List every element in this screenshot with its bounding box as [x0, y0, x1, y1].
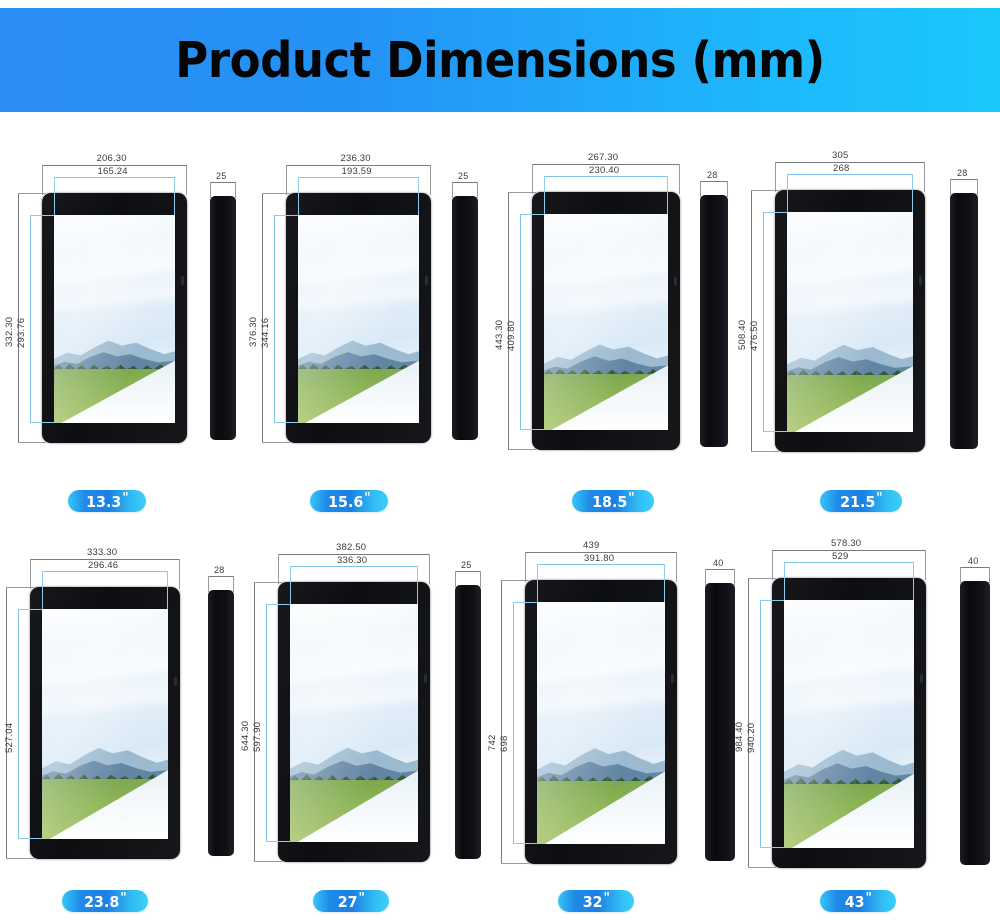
size-badge-number: 18.5	[592, 493, 627, 511]
outer-height-extension-top	[6, 587, 34, 588]
outer-width-extension-right	[676, 552, 677, 582]
outer-height-extension-bottom	[751, 451, 779, 452]
camera-dot-icon	[425, 276, 428, 285]
product-panel: 382.50336.30644.30597.902527"	[250, 540, 500, 924]
outer-width-label: 236.30	[341, 153, 371, 164]
outer-height-label: 508.40	[737, 320, 748, 350]
device-side-view	[705, 583, 735, 861]
outer-height-extension-bottom	[18, 442, 46, 443]
size-badge-number: 15.6	[328, 493, 363, 511]
device-front-view	[525, 580, 677, 864]
screen-width-label: 268	[833, 163, 849, 174]
screen-width-dimension-line	[787, 174, 913, 175]
screen-height-label: 476.50	[749, 321, 760, 351]
device-side-view	[452, 196, 478, 440]
device-front-view	[278, 582, 430, 862]
screen-width-label: 391.80	[584, 553, 614, 564]
screen-width-extension-right	[174, 177, 175, 215]
outer-width-extension-left	[525, 552, 526, 582]
depth-extension-right	[477, 182, 478, 198]
size-badge-label: 15.6"	[328, 492, 371, 510]
screen-height-extension-bottom	[274, 422, 298, 423]
size-badge-inch-mark: "	[358, 891, 364, 906]
outer-height-extension-bottom	[262, 442, 290, 443]
device-side-view	[455, 585, 481, 859]
outer-width-extension-right	[924, 162, 925, 192]
product-panel: 267.30230.40443.30409.802818.5"	[500, 160, 750, 530]
size-badge[interactable]: 15.6"	[310, 490, 388, 512]
screen-height-extension-top	[30, 215, 54, 216]
device-side-view	[208, 590, 234, 856]
screen-height-extension-top	[520, 214, 544, 215]
screen-height-label: 293.76	[16, 318, 27, 348]
screen-height-extension-top	[18, 609, 42, 610]
screen-height-extension-bottom	[266, 841, 290, 842]
screen-height-dimension-line	[763, 212, 764, 432]
outer-height-label: 984.40	[734, 722, 745, 752]
size-badge[interactable]: 43"	[820, 890, 896, 912]
outer-width-extension-left	[772, 550, 773, 580]
size-badge-number: 32	[582, 893, 602, 911]
size-badge-inch-mark: "	[603, 891, 609, 906]
outer-width-extension-left	[532, 164, 533, 194]
depth-extension-right	[235, 182, 236, 198]
device-front-view	[42, 193, 187, 443]
screen-height-dimension-line	[274, 215, 275, 423]
depth-extension-left	[950, 179, 951, 195]
depth-extension-right	[233, 576, 234, 592]
camera-dot-icon	[674, 277, 677, 286]
camera-dot-icon	[920, 674, 923, 683]
screen-height-dimension-line	[513, 602, 514, 844]
device-side-view	[210, 196, 236, 440]
outer-width-dimension-line	[775, 162, 925, 163]
device-front-view	[532, 192, 680, 450]
outer-height-label: 644.30	[240, 721, 251, 751]
device-screen	[784, 600, 914, 848]
outer-width-label: 267.30	[588, 152, 618, 163]
depth-extension-left	[452, 182, 453, 198]
outer-height-extension-top	[748, 578, 776, 579]
depth-label: 25	[461, 560, 471, 570]
depth-dimension-line	[455, 571, 481, 572]
outer-width-extension-left	[278, 554, 279, 584]
screen-width-extension-right	[417, 566, 418, 604]
product-panel: 333.30296.46557.30527.042823.8"	[0, 540, 250, 924]
device-front-view	[286, 193, 431, 443]
size-badge[interactable]: 27"	[313, 890, 389, 912]
depth-extension-left	[700, 181, 701, 197]
screen-width-dimension-line	[54, 177, 175, 178]
screen-width-dimension-line	[290, 566, 418, 567]
screen-width-extension-right	[167, 571, 168, 609]
depth-dimension-line	[700, 181, 728, 182]
screen-width-extension-right	[913, 562, 914, 600]
device-screen	[290, 604, 418, 842]
outer-width-label: 333.30	[87, 547, 117, 558]
depth-label: 28	[957, 168, 967, 178]
outer-height-extension-top	[751, 190, 779, 191]
outer-width-extension-right	[679, 164, 680, 194]
screen-height-label: 698	[499, 736, 510, 752]
size-badge[interactable]: 21.5"	[820, 490, 902, 512]
screen-height-label: 527.04	[4, 723, 15, 753]
product-panel: 305268508.40476.502821.5"	[750, 160, 1000, 530]
depth-dimension-line	[208, 576, 234, 577]
product-panel: 439391.807426984032"	[500, 540, 750, 924]
device-screen	[42, 609, 168, 839]
size-badge-label: 32"	[582, 892, 609, 910]
screen-height-extension-top	[513, 602, 537, 603]
screen-width-dimension-line	[537, 564, 665, 565]
outer-height-label: 376.30	[248, 317, 259, 347]
size-badge[interactable]: 13.3"	[68, 490, 146, 512]
size-badge[interactable]: 18.5"	[572, 490, 654, 512]
device-screen	[787, 212, 913, 432]
outer-width-extension-right	[430, 165, 431, 195]
screen-height-extension-top	[760, 600, 784, 601]
device-front-view	[775, 190, 925, 452]
screen-width-extension-left	[290, 566, 291, 604]
screen-height-extension-bottom	[18, 838, 42, 839]
outer-height-label: 557.30	[0, 722, 3, 752]
screen-width-dimension-line	[298, 177, 419, 178]
device-side-view	[700, 195, 728, 447]
outer-width-extension-right	[925, 550, 926, 580]
outer-height-extension-top	[18, 193, 46, 194]
depth-dimension-line	[960, 567, 990, 568]
outer-height-label: 742	[487, 735, 498, 751]
outer-width-dimension-line	[772, 550, 926, 551]
size-badge[interactable]: 32"	[558, 890, 634, 912]
screen-height-dimension-line	[760, 600, 761, 848]
depth-extension-left	[960, 567, 961, 583]
outer-height-extension-top	[508, 192, 536, 193]
outer-height-extension-top	[501, 580, 529, 581]
size-badge-number: 21.5	[840, 493, 875, 511]
camera-dot-icon	[174, 677, 177, 686]
screen-height-label: 344.16	[260, 318, 271, 348]
device-side-view	[960, 581, 990, 865]
screen-width-label: 230.40	[589, 165, 619, 176]
size-badge-label: 18.5"	[592, 492, 635, 510]
depth-label: 28	[214, 565, 224, 575]
screen-width-label: 165.24	[98, 166, 128, 177]
camera-dot-icon	[181, 276, 184, 285]
screen-height-extension-bottom	[30, 422, 54, 423]
size-badge-inch-mark: "	[120, 891, 126, 906]
screen-height-label: 409.80	[506, 321, 517, 351]
device-screen	[544, 214, 668, 430]
screen-height-dimension-line	[30, 215, 31, 423]
outer-height-extension-bottom	[254, 861, 282, 862]
product-row-bottom: 333.30296.46557.30527.042823.8"382.50336…	[0, 540, 1000, 924]
size-badge-number: 13.3	[86, 493, 121, 511]
outer-width-extension-right	[429, 554, 430, 584]
size-badge-label: 43"	[844, 892, 871, 910]
outer-width-extension-left	[286, 165, 287, 195]
depth-extension-right	[977, 179, 978, 195]
depth-label: 25	[458, 171, 468, 181]
outer-width-label: 578.30	[831, 538, 861, 549]
screen-width-extension-left	[54, 177, 55, 215]
size-badge-inch-mark: "	[364, 491, 370, 506]
product-panel: 206.30165.24332.30293.762513.3"	[0, 160, 250, 530]
outer-height-extension-bottom	[508, 449, 536, 450]
size-badge-number: 27	[337, 893, 357, 911]
header-banner: Product Dimensions (mm)	[0, 8, 1000, 112]
size-badge[interactable]: 23.8"	[62, 890, 148, 912]
outer-width-extension-right	[179, 559, 180, 589]
size-badge-label: 23.8"	[84, 892, 127, 910]
product-row-top: 206.30165.24332.30293.762513.3"236.30193…	[0, 160, 1000, 530]
depth-label: 40	[968, 556, 978, 566]
camera-dot-icon	[671, 674, 674, 683]
size-badge-label: 27"	[337, 892, 364, 910]
screen-height-extension-bottom	[513, 843, 537, 844]
size-badge-label: 13.3"	[86, 492, 129, 510]
outer-height-label: 332.30	[4, 317, 15, 347]
size-badge-inch-mark: "	[865, 891, 871, 906]
screen-width-dimension-line	[42, 571, 168, 572]
depth-dimension-line	[210, 182, 236, 183]
device-screen	[54, 215, 175, 423]
depth-extension-left	[208, 576, 209, 592]
product-dimensions-page: Product Dimensions (mm) 206.30165.24332.…	[0, 0, 1000, 924]
outer-height-dimension-line	[501, 580, 502, 864]
screen-width-extension-left	[544, 176, 545, 214]
screen-width-label: 296.46	[88, 560, 118, 571]
product-panel: 236.30193.59376.30344.162515.6"	[250, 160, 500, 530]
page-title: Product Dimensions (mm)	[175, 32, 825, 89]
screen-width-extension-left	[537, 564, 538, 602]
depth-dimension-line	[950, 179, 978, 180]
depth-label: 28	[707, 170, 717, 180]
outer-height-extension-bottom	[748, 867, 776, 868]
screen-width-extension-left	[298, 177, 299, 215]
size-badge-inch-mark: "	[628, 491, 634, 506]
outer-height-label: 443.30	[494, 320, 505, 350]
outer-width-label: 382.50	[336, 542, 366, 553]
screen-height-extension-top	[763, 212, 787, 213]
screen-height-dimension-line	[520, 214, 521, 430]
depth-extension-right	[989, 567, 990, 583]
screen-height-label: 940.20	[746, 723, 757, 753]
screen-height-extension-bottom	[760, 847, 784, 848]
device-screen	[537, 602, 665, 844]
outer-width-extension-right	[186, 165, 187, 195]
screen-width-dimension-line	[784, 562, 914, 563]
size-badge-number: 23.8	[84, 893, 119, 911]
screen-width-extension-right	[418, 177, 419, 215]
screen-height-extension-bottom	[763, 431, 787, 432]
outer-height-extension-top	[254, 582, 282, 583]
screen-width-extension-right	[667, 176, 668, 214]
depth-extension-left	[455, 571, 456, 587]
screen-width-extension-left	[784, 562, 785, 600]
device-screen	[298, 215, 419, 423]
screen-width-extension-left	[787, 174, 788, 212]
size-badge-number: 43	[844, 893, 864, 911]
outer-height-extension-bottom	[6, 858, 34, 859]
screen-width-label: 336.30	[337, 555, 367, 566]
screen-width-dimension-line	[544, 176, 668, 177]
screen-width-extension-right	[664, 564, 665, 602]
device-front-view	[30, 587, 180, 859]
screen-height-dimension-line	[266, 604, 267, 842]
depth-label: 40	[713, 558, 723, 568]
screen-height-extension-top	[274, 215, 298, 216]
device-side-view	[950, 193, 978, 449]
outer-width-label: 439	[583, 540, 599, 551]
screen-width-extension-left	[42, 571, 43, 609]
depth-extension-right	[480, 571, 481, 587]
depth-dimension-line	[705, 569, 735, 570]
device-front-view	[772, 578, 926, 868]
screen-height-dimension-line	[18, 609, 19, 839]
depth-label: 25	[216, 171, 226, 181]
outer-width-extension-left	[42, 165, 43, 195]
screen-height-extension-top	[266, 604, 290, 605]
screen-height-extension-bottom	[520, 429, 544, 430]
screen-width-extension-right	[912, 174, 913, 212]
screen-width-label: 193.59	[342, 166, 372, 177]
outer-width-label: 305	[832, 150, 848, 161]
size-badge-inch-mark: "	[876, 491, 882, 506]
outer-width-label: 206.30	[97, 153, 127, 164]
depth-extension-left	[705, 569, 706, 585]
camera-dot-icon	[919, 276, 922, 285]
size-badge-inch-mark: "	[122, 491, 128, 506]
size-badge-label: 21.5"	[840, 492, 883, 510]
outer-width-extension-left	[775, 162, 776, 192]
product-panel: 578.30529984.40940.204043"	[750, 540, 1000, 924]
outer-width-extension-left	[30, 559, 31, 589]
depth-dimension-line	[452, 182, 478, 183]
depth-extension-right	[734, 569, 735, 585]
screen-height-label: 597.90	[252, 722, 263, 752]
camera-dot-icon	[424, 674, 427, 683]
screen-width-label: 529	[832, 551, 848, 562]
outer-height-extension-top	[262, 193, 290, 194]
depth-extension-left	[210, 182, 211, 198]
outer-height-extension-bottom	[501, 863, 529, 864]
depth-extension-right	[727, 181, 728, 197]
